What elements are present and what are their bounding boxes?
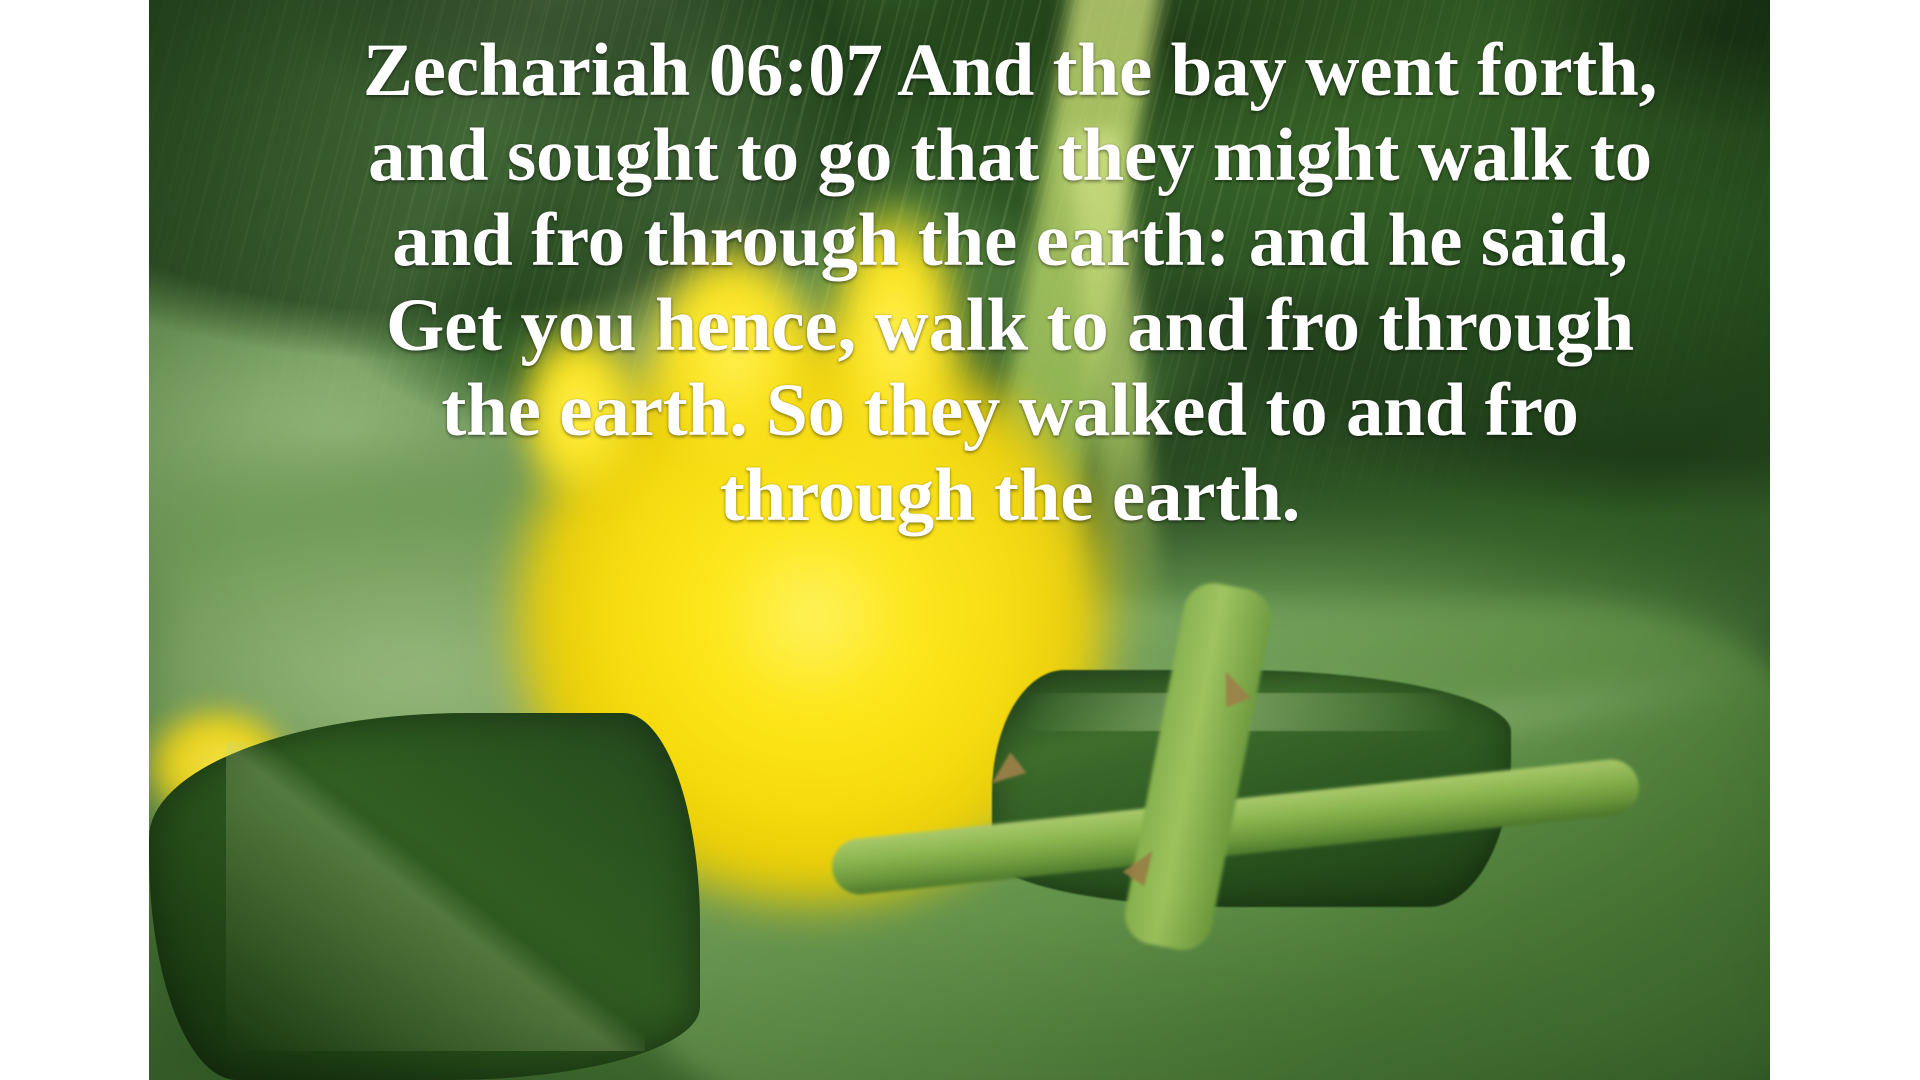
verse-text: Zechariah 06:07 And the bay went forth, … — [335, 28, 1685, 538]
verse-slide: Zechariah 06:07 And the bay went forth, … — [0, 0, 1920, 1080]
background-photo: Zechariah 06:07 And the bay went forth, … — [149, 0, 1770, 1080]
focused-leaf-bottom-left — [149, 713, 700, 1080]
